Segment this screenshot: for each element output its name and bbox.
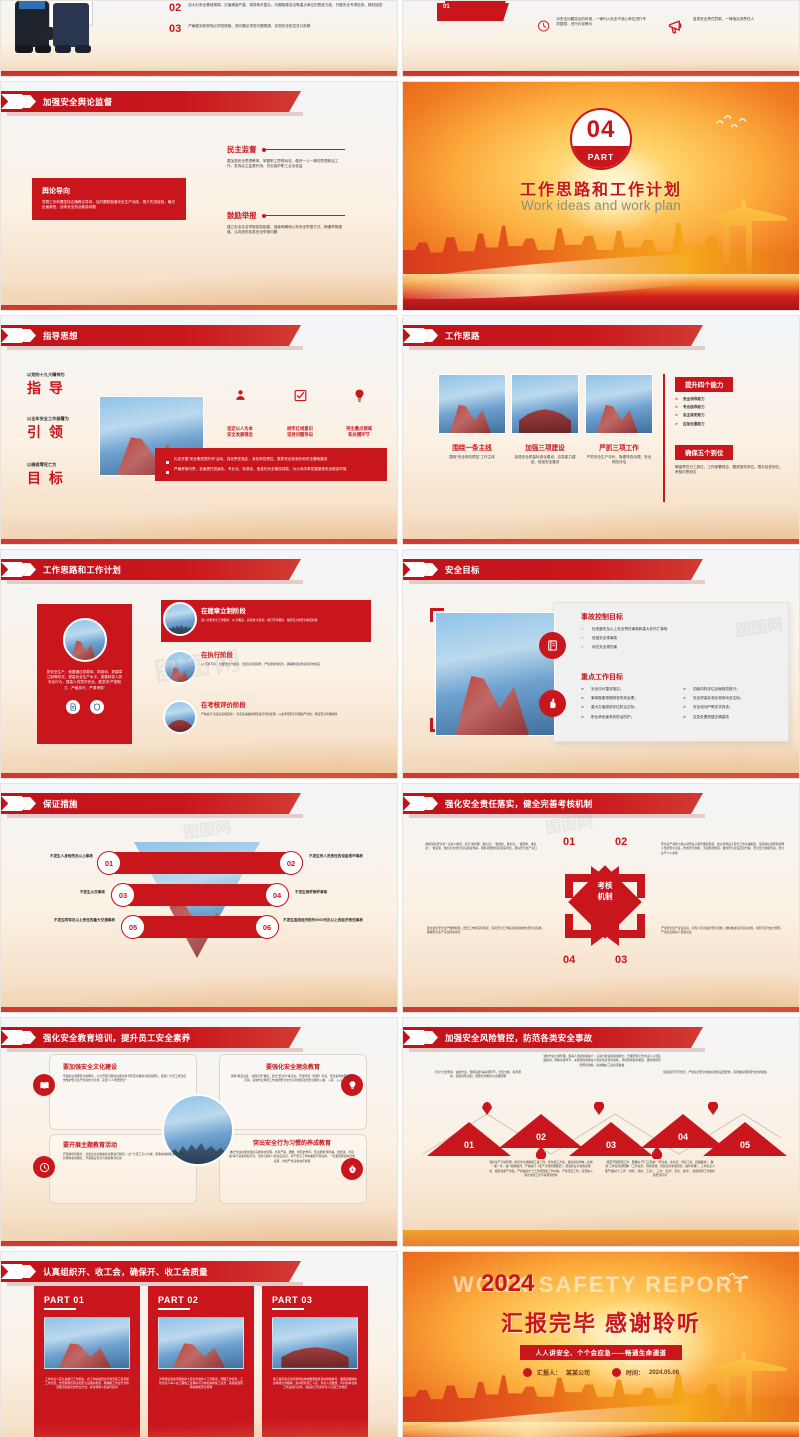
card-body: 抓安全生产，就要通过抓载体、抓培训、抓建章立制等形式，提高安全生产水平，更要转变… [46,670,123,691]
list-item: 03 严格做到查现场必须查措施、查问题必须查问题根源，实现安全防控关口前移 [169,24,383,35]
presenter-value: 某某公司 [566,1368,590,1377]
ribbon-band [403,274,799,310]
item-body: 要加强安全思想教育，掌握职工思想动态，做好一人一事的思想政治工作，发挥民主监督作… [227,159,345,169]
card-body: 开展解剖性教育，对发生过的事故和违章进行解剖，让广大员工引以为戒，吸收成熟的职业… [63,1152,187,1161]
list-item: 对安全问题突出的科室，一律列入安全不放心单位进行专项整顿，进行约谈警示 [537,17,649,35]
panel-list-item: ➤专业指导能力 [675,405,783,410]
header-shadow [7,346,303,350]
goal-item: ➤职业病危害有效防治防护； [581,715,675,720]
goal-item: ➤四级风险评估全面规范推行； [683,687,781,692]
icon-item: 突出重点领域 和关键环节 [331,388,387,439]
slide-title: 保证措施 [43,798,78,810]
item-text: 严格做到查现场必须查措施、查问题必须查问题根源，实现安全防控关口前移 [188,24,310,35]
slide-header: 安全目标 [403,559,703,580]
step-text: 规范开展现场工作，要做好“开门三件事”（开好会、办好票、带好工具、搭摆器材），做… [605,1160,715,1177]
card-body: 严抓安全生产评价、隐患排查治理、安全风险评估 [585,455,653,465]
pillar-word: 指 导 [27,378,97,398]
card-heading: 严抓三项工作 [585,442,653,452]
goal-item: ➤安全质量标准化现场动态达标； [683,696,781,701]
bottom-accent-bar [403,539,799,544]
bullet-item: 扎实开展“安全素质提升年”活动，强化责任落实，深化风险预控，狠抓安全标准化和安全… [166,457,376,462]
part-body: 工作负责人应认真履行工作职责，向工作班成员交代当天施工任务和工作分配，告知现场危… [44,1377,130,1390]
opinion-direction-card: 舆论导向 党群工作科要坚持正确舆论导向，及时跟踪报道安全生产动态，推介先进经验，… [32,178,186,220]
bottom-accent-bar [1,1241,397,1246]
header-shadow [409,580,705,584]
checklist-icon [293,388,308,403]
stage-heading: 在建章立制阶段 [201,606,363,615]
part-card: PART 01 工作负责人应认真履行工作职责，向工作班成员交代当天施工任务和工作… [34,1286,140,1437]
node-number: 03 [615,954,627,966]
card-heading: 要强化安全理念教育 [231,1062,355,1071]
slide-title: 加强安全风险管控，防范各类安全事故 [445,1032,592,1044]
list-item: 各类安全责任罚款，一律落实到责任人 [667,17,777,35]
capability-panel: 提升四个能力 ➤安全领导能力 ➤专业指导能力 ➤自主保安能力 ➤应急处置能力 [675,374,783,427]
section-number-badge: 04 PART [570,108,632,170]
part-card: PART 03 收工会应重点清点现场接地线数量和核对接地线编号，确保该撤除的接地… [262,1286,368,1437]
crane-photo [435,612,555,736]
measure-number: 01 [97,851,121,875]
card-heading: 围绕一条主线 [438,442,506,452]
slide-title: 工作思路和工作计划 [43,564,121,576]
card-heading: 舆论导向 [42,186,176,196]
part-label: PART 03 [272,1295,358,1305]
chevron-right-icon [1,91,43,112]
slide-thumbnail-5[interactable]: 指导思想 以党的十九大精神为 指 导 以全年安全工作部署为 引 领 以确保零死亡… [0,315,398,545]
item-text: 各类安全责任罚款，一律落实到责任人 [693,17,754,35]
part-card: PART 02 对现场设置的专职监护人应交代监护人工作职责，明确工作任务。工作负… [148,1286,254,1437]
closing-subtitle: 人人讲安全、个个会应急——畅通生命通道 [520,1345,683,1360]
measure-text: 不发生人身轻伤及以上事故 [15,854,93,859]
slide-thumbnail-8[interactable]: 图图网 安全目标 事故控制目标 ✓杜绝重伤及以上安全责任事故和重大非伤亡事故 ✓… [402,549,800,779]
book-icon [33,1074,55,1096]
group-heading: 重点工作目标 [581,672,781,682]
slide-thumbnail-12[interactable]: 加强安全风险管控，防范各类安全事故 强化作业小组管理，随着人员的逐渐减少，认真分… [402,1017,800,1247]
crane-photo [158,1317,244,1369]
measure-text: 不发生有人员责任的设备损坏事故 [309,854,389,859]
card-body: 围绕“安全风险预控”工作主线 [438,455,506,460]
item-text: 加大对安全基础薄弱、灾害威胁严重、现场条件复杂、问题隐患突出等重点单位的督查力度… [188,3,382,14]
measure-text: 不发生直接经济损失5000元及以上的经济责任事故 [283,918,381,923]
node-text: 严肃安全生产责任追究，对有人员责任的安全问题，继续推进追带责任考核，按照“四不放… [661,926,785,935]
bridge-photo [511,374,579,434]
section-number: 04 [572,110,630,150]
panel-heading: 确保五个到位 [675,445,733,460]
encourage-report-item: 鼓励举报 建立安全实名举报奖励制度，逐级明确和公布安全举报方式，畅通举报渠道，认… [227,210,345,235]
crane-photo [163,650,197,684]
chevron-right-icon [403,1027,445,1048]
bulb-icon [352,388,367,403]
measure-text: 不发生火灾事故 [31,890,105,895]
panel-body: 确保责任分工到位、工作部署到位、跟进指导到位、督办检查到位、考核问责到位 [675,465,785,475]
icon-item: 树牢红线意识 坚持问题导向 [273,388,327,439]
step-text: 针对“计划安排、班组作业、现场实施”等关键环节，分层分级、各有侧重，实施风险识别… [433,1070,523,1079]
slide-thumbnail-14[interactable]: WORK SAFETY REPORT 2024 汇报完毕 感谢聆听 人人讲安全、… [402,1251,800,1437]
watermark: 图图网 [544,808,595,838]
part-body: 收工会应重点清点现场接地线数量和核对接地线编号，确保该撤除的接地线全部撤除，集中… [272,1377,358,1390]
pillar: 以全年安全工作部署为 引 领 [27,416,99,442]
closing-title-cn: 汇报完毕 感谢聆听 [403,1306,799,1338]
pillar: 以确保零死亡为 目 标 [27,462,97,488]
node-number: 04 [563,954,575,966]
chevron-right-icon [1,1027,43,1048]
city-photo [163,602,197,636]
item-number: 02 [169,3,181,14]
date-label: 时间： [626,1368,644,1377]
slide-title: 强化安全教育培训，提升员工安全素养 [43,1032,190,1044]
chevron-right-icon [403,793,445,814]
part-label: PART 02 [158,1295,244,1305]
chevron-right-icon [1,559,43,580]
work-idea-card: 加强三项建设 加强安全质量标准化建设、应急能力建设、班组安全建设 [511,374,579,465]
slide-header: 加强安全舆论监督 [1,91,301,112]
header-shadow [7,580,303,584]
card-body: 推行作业标准化和反违章常态管理，培养严谨、细致、规范的作风，坚决抵制“图省事、抢… [229,1150,355,1163]
slide-thumbnail-3[interactable]: 加强安全舆论监督 舆论导向 党群工作科要坚持正确舆论导向，及时跟踪报道安全生产动… [0,81,398,311]
slide-header: 工作思路 [403,325,703,346]
card-body: 倡导“相互关爱、共保平安”理念，结合“安全月”等活动，开展年度《安规》考试，形式… [231,1074,355,1083]
edu-card-content: 要开展主题教育活动 开展解剖性教育，对发生过的事故和违章进行解剖，让广大员工引以… [63,1140,187,1161]
svg-text:$: $ [351,1168,353,1172]
measure-number: 03 [111,883,135,907]
slide-thumbnail-7[interactable]: 图图网 工作思路和工作计划 抓安全生产，就要通过抓载体、抓培训、抓建章立制等形式… [0,549,398,779]
header-shadow [409,1048,705,1052]
closing-title-en: WORK SAFETY REPORT [403,1272,799,1298]
edu-card-content: 要加强安全文化建设 牢固树立我要安全的理念，大力开展习惯性违章分析与防范计策的分… [63,1062,187,1083]
bridge-photo [272,1317,358,1369]
presenter-label: 汇报人： [537,1368,561,1377]
slide-thumbnail-grid: 02 加大对安全基础薄弱、灾害威胁严重、现场条件复杂、问题隐患突出等重点单位的督… [0,0,800,1437]
panel-list-item: ➤应急处置能力 [675,422,783,427]
measure-number: 05 [121,915,145,939]
goal-item: ➤事故隐患按期排查有效治理； [581,696,675,701]
cycle-arrows-icon [551,852,659,960]
bullet-item: 严格考核问责，全面提升层级化、专业化、标准化、信息化安全管控效能，为公司改革发展… [166,467,376,472]
chevron-right-icon [403,559,445,580]
goal-item: ➤安全评价整改落实； [581,687,675,692]
date-value: 2024.05.06 [649,1370,679,1376]
measure-text: 不发生倒杆断杆事故 [295,890,377,895]
slide-title: 认真组织开、收工会，确保开、收工会质量 [43,1266,208,1278]
bridge-photo [163,700,197,734]
item-heading: 民主监督 [227,144,257,155]
presenter-field: 汇报人： 某某公司 [523,1368,590,1377]
panel-list-item: ➤安全领导能力 [675,397,783,402]
slide-title: 指导思想 [43,330,78,342]
document-icon [66,700,80,714]
chevron-right-icon [1,793,43,814]
book-icon [539,632,566,659]
date-field: 时间： 2024.05.06 [612,1368,679,1377]
panel-list-item: ➤自主保安能力 [675,413,783,418]
goal-item: ➤应急处置快捷正确高效 [683,715,781,720]
stage-body: 以“不折不扣、全面到位”为目标，加强宣贯和指导，严格监督和检查，确保制度标准得到… [201,662,371,666]
header-note: 强化作业小组管理，随着人员的逐渐减少，认真分析班组承载能力，合理安排工作负责人以… [543,1054,661,1067]
slide-header: 强化安全责任落实，健全完善考核机制 [403,793,703,814]
node-number: 02 [615,836,627,848]
bottom-accent-bar [403,1007,799,1012]
stage-heading: 在考核评价阶段 [201,700,371,709]
bullets-card: 扎实开展“安全素质提升年”活动，强化责任落实，深化风险预控，狠抓安全标准化和安全… [155,448,387,481]
chevron-right-icon [1,1261,43,1282]
bottom-accent-bar [1,1007,397,1012]
slide-header: 强化安全教育培训，提升员工安全素养 [1,1027,301,1048]
stage-heading: 在执行阶段 [201,650,371,659]
work-idea-card: 严抓三项工作 严抓安全生产评价、隐患排查治理、安全风险评估 [585,374,653,465]
bottom-sunset-band [403,1230,799,1246]
work-idea-card: 围绕一条主线 围绕“安全风险预控”工作主线 [438,374,506,460]
slide-thumbnail-9[interactable]: 图图网 保证措施 01 02 03 04 05 06 不发生人身轻伤及以上事故 … [0,783,398,1013]
icon-label: 突出重点领域 和关键环节 [331,426,387,439]
left-summary-card: 抓安全生产，就要通过抓载体、抓培训、抓建章立制等形式，提高安全生产水平，更要转变… [37,604,132,744]
megaphone-icon [667,17,687,35]
header-shadow [7,1048,303,1052]
slide-title: 强化安全责任落实，健全完善考核机制 [445,798,592,810]
pillar: 以党的十九大精神为 指 导 [27,372,97,398]
slide-thumbnail-2[interactable]: 03 02 01 对安全问题突出的科室，一律列入安全不放心单位进行专项整顿，进行… [402,0,800,77]
icon-label: 坚定以人为本 安全发展理念 [213,426,267,439]
header-shadow [409,346,705,350]
slide-thumbnail-10[interactable]: 图图网 强化安全责任落实，健全完善考核机制 考核 机制 01 02 03 04 … [402,783,800,1013]
slide-title: 安全目标 [445,564,480,576]
slide-title: 工作思路 [445,330,480,342]
measure-number: 04 [265,883,289,907]
card-body: 牢固树立我要安全的理念，大力开展习惯性违章分析与防范计策的分析和研控，促使广大员… [63,1074,187,1083]
chevron-right-icon [1,325,43,346]
node-text: 安全生产领导小组从领导班子和管理层抓起，建立领导班子安全工作议事制度，落实每位领… [661,842,785,855]
item-number: 03 [169,24,181,35]
slide-header: 认真组织开、收工会，确保开、收工会质量 [1,1261,301,1282]
edu-card-content: 突出安全行为习惯的养成教育 推行作业标准化和反违章常态管理，培养严谨、细致、规范… [229,1138,355,1163]
item-heading: 鼓励举报 [227,210,257,221]
section-part-label: PART [572,146,630,168]
item-body: 建立安全实名举报奖励制度，逐级明确和公布安全举报方式，畅通举报渠道，认真查处各类… [227,225,345,235]
bullet-dot-icon [523,1368,532,1377]
slide-header: 指导思想 [1,325,301,346]
closing-year: 2024 [481,1270,534,1298]
bottom-accent-bar [1,71,397,76]
card-body: 党群工作科要坚持正确舆论导向，及时跟踪报道安全生产动态，推介先进经验，曝光反面典… [42,200,176,210]
step-text: 强化生产计划管理，综合考虑线路施工等工作，优化施工方案，避免重复停电，杜绝一事一… [489,1160,593,1177]
bottom-accent-bar [1,773,397,778]
icon-item: 坚定以人为本 安全发展理念 [213,388,267,439]
goal-item: ➤安全培训严教实学真查； [683,705,781,710]
slide-thumbnail-13[interactable]: 认真组织开、收工会，确保开、收工会质量 PART 01 工作负责人应认真履行工作… [0,1251,398,1437]
step-text: 加强运行环节管控，严格执行安全措施标准化设置要求，双苗做好现场安全防护措施 [661,1070,769,1074]
pillar-word: 目 标 [27,468,97,488]
stage-body: 深入分析安全工作要求，以“全覆盖、高标准”为目标，制订环环相扣、保障有力的安全制… [201,618,363,622]
clock-icon [33,1156,55,1178]
header-shadow [7,112,303,116]
slide-title: 加强安全舆论监督 [43,96,112,108]
crane-photo [44,1317,130,1369]
measure-number: 02 [279,851,303,875]
democratic-supervision-item: 民主监督 要加强安全思想教育，掌握职工思想动态，做好一人一事的思想政治工作，发挥… [227,144,345,169]
crane-photo [438,374,506,434]
goal-item: ➤重大灾害超前评估防治达标； [581,705,675,710]
list-item: 02 加大对安全基础薄弱、灾害威胁严重、现场条件复杂、问题隐患突出等重点单位的督… [169,3,383,14]
positions-panel: 确保五个到位 确保责任分工到位、工作部署到位、跟进指导到位、督办检查到位、考核问… [675,442,785,475]
bottom-accent-bar [1,539,397,544]
node-number: 01 [563,836,575,848]
goal-item: ✓岗位安全零伤害 [581,645,781,650]
section-title-cn: 工作思路和工作计划 [403,176,799,200]
key-work-group: 重点工作目标 ➤安全评价整改落实； ➤事故隐患按期排查有效治理； ➤重大灾害超前… [581,672,781,720]
pillar-word: 引 领 [27,422,99,442]
slide-header: 工作思路和工作计划 [1,559,301,580]
icon-label: 树牢红线意识 坚持问题导向 [273,426,327,439]
shield-icon [90,700,104,714]
part-label: PART 01 [44,1295,130,1305]
slide-thumbnail-11[interactable]: 强化安全教育培训，提升员工安全素养 $ 要加强安全文化建设 牢固树立我要安全的理… [0,1017,398,1247]
step-label: 01 [443,4,450,10]
node-text: 继续强化安全第一责任人制度，实行“谁管理、谁负责”，“谁组织、谁负责”，“谁安排… [421,842,541,851]
card-heading: 加强三项建设 [511,442,579,452]
measure-number: 06 [255,915,279,939]
item-text: 对安全问题突出的科室，一律列入安全不放心单位进行专项整顿，进行约谈警示 [556,17,649,35]
assessment-center-label: 考核 机制 [579,880,631,903]
header-shadow [7,1282,303,1286]
slide-thumbnail-4[interactable]: 04 PART 工作思路和工作计划 Work ideas and work pl… [402,81,800,311]
slide-thumbnail-6[interactable]: 工作思路 围绕一条主线 围绕“安全风险预控”工作主线 加强三项建设 加强安全质量… [402,315,800,545]
ribbon-band [403,1422,799,1437]
bottom-accent-bar [1,305,397,310]
bullet-dot-icon [612,1368,621,1377]
person-icon [233,388,248,403]
crane-photo [585,374,653,434]
bottom-accent-bar [403,71,799,76]
part-body: 对现场设置的专职监护人应交代监护人工作职责，明确工作任务。工作负责人本人在工程施… [158,1377,244,1390]
clock-icon [537,17,550,35]
vertical-divider [663,374,665,502]
bottom-accent-bar [403,773,799,778]
node-text: 建立健全安全生产规章制度，结合工作的实际情况，完善安全工作职责和各级岗位安全责任… [427,926,547,935]
chevron-right-icon [403,325,445,346]
step-number: 05 [703,1140,787,1150]
card-heading: 要加强安全文化建设 [63,1062,187,1071]
measure-text: 不发生同等及以上责任的重大交通事故 [23,918,115,923]
header-shadow [7,814,303,818]
slide-header: 保证措施 [1,793,301,814]
hand-icon [539,690,566,717]
card-body: 加强安全质量标准化建设、应急能力建设、班组安全建设 [511,455,579,465]
edu-card-content: 要强化安全理念教育 倡导“相互关爱、共保平安”理念，结合“安全月”等活动，开展年… [231,1062,355,1083]
crane-photo [63,618,107,662]
stage-body: 严格执行“责任追究制度化”，对责任事故按规定进行考核处理，以此体现安全管理的严肃… [201,712,371,716]
card-heading: 突出安全行为习惯的养成教育 [229,1138,355,1147]
slide-thumbnail-1[interactable]: 02 加大对安全基础薄弱、灾害威胁严重、现场条件复杂、问题隐患突出等重点单位的督… [0,0,398,77]
card-heading: 要开展主题教育活动 [63,1140,187,1149]
panel-heading: 提升四个能力 [675,377,733,392]
slide-header: 加强安全风险管控，防范各类安全事故 [403,1027,703,1048]
